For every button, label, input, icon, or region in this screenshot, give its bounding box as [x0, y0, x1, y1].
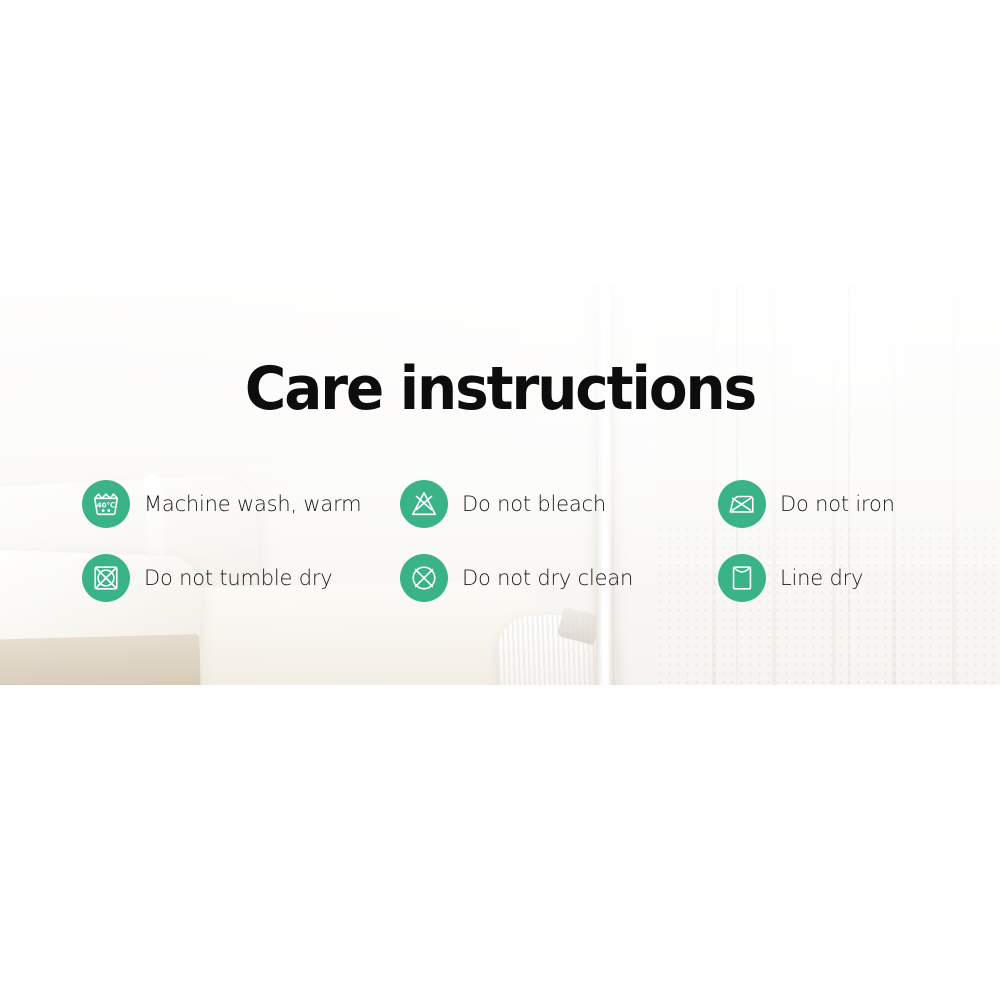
care-icon-grid: 40℃ Machine wash, warm Do not bleach: [82, 480, 962, 602]
care-instructions-banner: Care instructions 40℃ Machine wash, warm: [0, 0, 1000, 1000]
iron-crossed-icon: [718, 480, 766, 528]
svg-text:40℃: 40℃: [97, 500, 116, 509]
square-circle-crossed-tumble-dry-icon: [82, 554, 130, 602]
square-drip-line-dry-icon: [718, 554, 766, 602]
care-item-label: Do not dry clean: [462, 566, 633, 590]
triangle-crossed-bleach-icon: [400, 480, 448, 528]
care-item-label: Machine wash, warm: [144, 492, 361, 516]
circle-crossed-dry-clean-icon: [400, 554, 448, 602]
washtub-40c-icon: 40℃: [82, 480, 130, 528]
care-item-do-not-tumble-dry: Do not tumble dry: [82, 554, 400, 602]
care-item-label: Do not bleach: [462, 492, 606, 516]
care-item-label: Do not iron: [780, 492, 895, 516]
banner-overlay: Care instructions 40℃ Machine wash, warm: [0, 285, 1000, 685]
care-item-line-dry: Line dry: [718, 554, 962, 602]
care-item-do-not-iron: Do not iron: [718, 480, 962, 528]
care-item-label: Line dry: [780, 566, 863, 590]
page-title: Care instructions: [30, 359, 970, 419]
care-item-do-not-bleach: Do not bleach: [400, 480, 718, 528]
care-item-do-not-dry-clean: Do not dry clean: [400, 554, 718, 602]
care-item-label: Do not tumble dry: [144, 566, 333, 590]
care-item-machine-wash-warm: 40℃ Machine wash, warm: [82, 480, 400, 528]
